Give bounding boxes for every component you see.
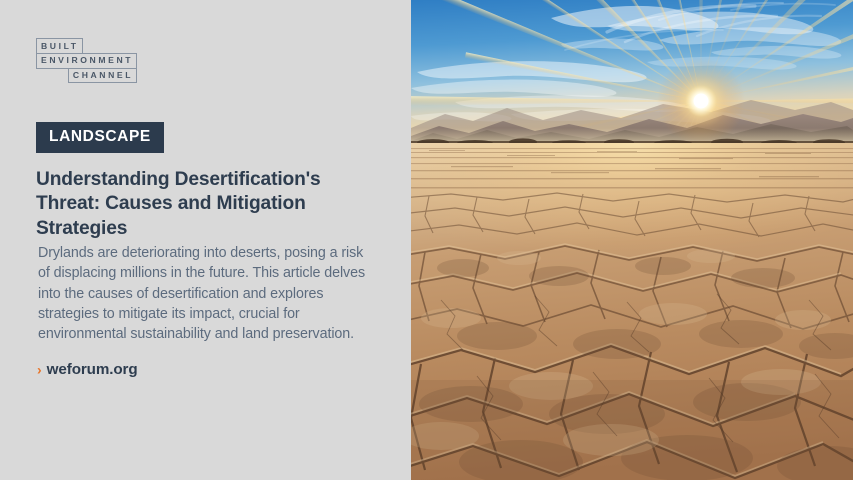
- source-link[interactable]: › weforum.org: [37, 362, 138, 377]
- brand-logo[interactable]: BUILT ENVIRONMENT CHANNEL: [36, 38, 137, 83]
- logo-stack: BUILT ENVIRONMENT CHANNEL: [36, 38, 137, 83]
- cracked-ground: [411, 143, 853, 480]
- desert-sunset-illustration: [411, 0, 853, 480]
- text-panel: BUILT ENVIRONMENT CHANNEL LANDSCAPE Unde…: [0, 0, 411, 480]
- logo-line-environment: ENVIRONMENT: [36, 53, 137, 69]
- chevron-right-icon: ›: [37, 362, 42, 376]
- hero-image: [411, 0, 853, 480]
- source-link-label: weforum.org: [47, 362, 138, 377]
- logo-line-channel: CHANNEL: [68, 68, 137, 84]
- headline: Understanding Desertification's Threat: …: [36, 168, 366, 241]
- logo-line-built: BUILT: [36, 38, 83, 54]
- article-promo-card: BUILT ENVIRONMENT CHANNEL LANDSCAPE Unde…: [0, 0, 853, 480]
- summary-text: Drylands are deteriorating into deserts,…: [38, 243, 378, 344]
- category-badge[interactable]: LANDSCAPE: [36, 122, 164, 153]
